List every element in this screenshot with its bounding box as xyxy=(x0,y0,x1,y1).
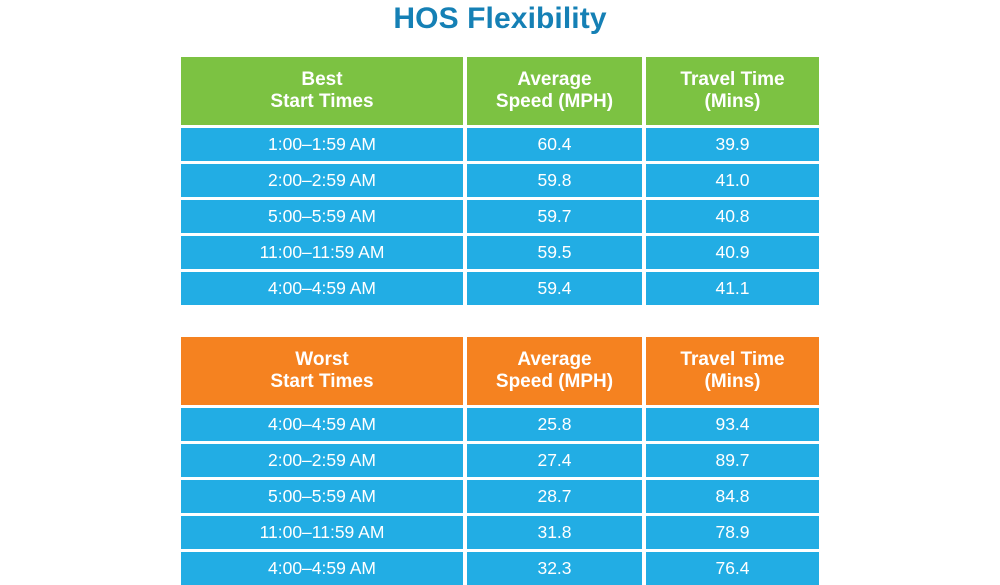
cell-start-time: 4:00–4:59 AM xyxy=(181,408,463,441)
table-row: 5:00–5:59 AM 59.7 40.8 xyxy=(181,200,819,233)
cell-travel-time: 78.9 xyxy=(646,516,819,549)
cell-average-speed: 59.4 xyxy=(467,272,642,305)
page-title: HOS Flexibility xyxy=(0,0,1000,38)
table-row: 2:00–2:59 AM 59.8 41.0 xyxy=(181,164,819,197)
cell-average-speed: 59.7 xyxy=(467,200,642,233)
cell-start-time: 5:00–5:59 AM xyxy=(181,200,463,233)
cell-average-speed: 27.4 xyxy=(467,444,642,477)
table-row: 5:00–5:59 AM 28.7 84.8 xyxy=(181,480,819,513)
cell-average-speed: 59.5 xyxy=(467,236,642,269)
cell-start-time: 1:00–1:59 AM xyxy=(181,128,463,161)
cell-travel-time: 76.4 xyxy=(646,552,819,585)
column-header-travel-time: Travel Time (Mins) xyxy=(646,57,819,125)
cell-travel-time: 41.0 xyxy=(646,164,819,197)
cell-travel-time: 41.1 xyxy=(646,272,819,305)
cell-travel-time: 40.9 xyxy=(646,236,819,269)
cell-travel-time: 93.4 xyxy=(646,408,819,441)
cell-travel-time: 84.8 xyxy=(646,480,819,513)
column-header-start-times: Worst Start Times xyxy=(181,337,463,405)
cell-average-speed: 28.7 xyxy=(467,480,642,513)
table-row: 1:00–1:59 AM 60.4 39.9 xyxy=(181,128,819,161)
cell-travel-time: 40.8 xyxy=(646,200,819,233)
table-row: 11:00–11:59 AM 31.8 78.9 xyxy=(181,516,819,549)
table-row: 4:00–4:59 AM 59.4 41.1 xyxy=(181,272,819,305)
cell-average-speed: 32.3 xyxy=(467,552,642,585)
cell-start-time: 2:00–2:59 AM xyxy=(181,444,463,477)
table-row: 4:00–4:59 AM 25.8 93.4 xyxy=(181,408,819,441)
cell-start-time: 11:00–11:59 AM xyxy=(181,236,463,269)
infographic-page: HOS Flexibility Best Start Times Average… xyxy=(0,0,1000,582)
cell-average-speed: 59.8 xyxy=(467,164,642,197)
cell-start-time: 2:00–2:59 AM xyxy=(181,164,463,197)
cell-start-time: 4:00–4:59 AM xyxy=(181,552,463,585)
cell-travel-time: 39.9 xyxy=(646,128,819,161)
table-row: 2:00–2:59 AM 27.4 89.7 xyxy=(181,444,819,477)
column-header-average-speed: Average Speed (MPH) xyxy=(467,57,642,125)
table-row: 11:00–11:59 AM 59.5 40.9 xyxy=(181,236,819,269)
worst-start-times-table: Worst Start Times Average Speed (MPH) Tr… xyxy=(181,337,819,585)
cell-travel-time: 89.7 xyxy=(646,444,819,477)
column-header-travel-time: Travel Time (Mins) xyxy=(646,337,819,405)
cell-average-speed: 31.8 xyxy=(467,516,642,549)
cell-start-time: 5:00–5:59 AM xyxy=(181,480,463,513)
table-header-row: Worst Start Times Average Speed (MPH) Tr… xyxy=(181,337,819,405)
cell-start-time: 11:00–11:59 AM xyxy=(181,516,463,549)
column-header-start-times: Best Start Times xyxy=(181,57,463,125)
cell-average-speed: 25.8 xyxy=(467,408,642,441)
column-header-average-speed: Average Speed (MPH) xyxy=(467,337,642,405)
cell-start-time: 4:00–4:59 AM xyxy=(181,272,463,305)
table-row: 4:00–4:59 AM 32.3 76.4 xyxy=(181,552,819,585)
best-start-times-table: Best Start Times Average Speed (MPH) Tra… xyxy=(181,57,819,305)
cell-average-speed: 60.4 xyxy=(467,128,642,161)
table-header-row: Best Start Times Average Speed (MPH) Tra… xyxy=(181,57,819,125)
